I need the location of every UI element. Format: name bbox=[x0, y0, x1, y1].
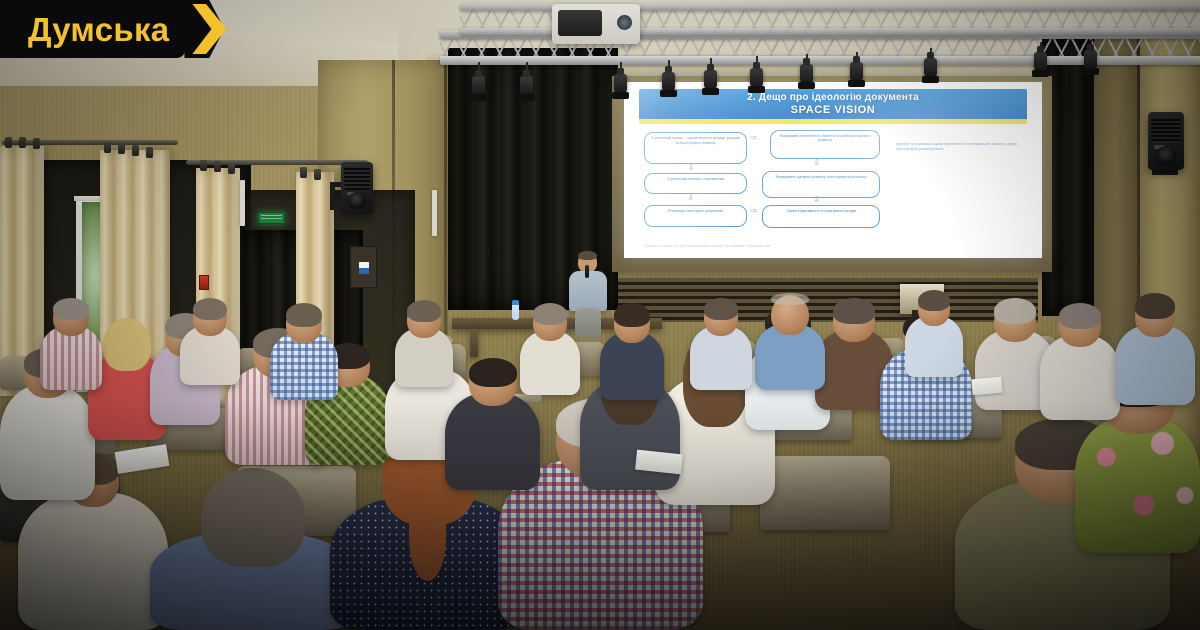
stage-light bbox=[850, 62, 863, 82]
stage-light bbox=[472, 76, 485, 96]
audience-member-torso bbox=[1115, 325, 1195, 405]
fire-alarm-box bbox=[199, 275, 209, 290]
stage-light bbox=[614, 74, 627, 94]
ceiling-projector bbox=[552, 4, 640, 44]
chair[interactable] bbox=[760, 456, 890, 530]
audience-member bbox=[905, 292, 963, 377]
photo-canvas: 2. Дещо про ідеологію документа SPACE VI… bbox=[0, 0, 1200, 630]
curtain-ring bbox=[132, 145, 139, 156]
wall-notice-board bbox=[350, 246, 377, 288]
audience-member-hair bbox=[1135, 293, 1175, 319]
stage-light bbox=[704, 70, 717, 90]
stage-light bbox=[662, 72, 675, 92]
presenter-hair bbox=[578, 251, 597, 260]
watermark-plate: Думська bbox=[0, 0, 185, 58]
audience-member-hair bbox=[407, 300, 441, 322]
curtain-ring bbox=[33, 138, 40, 149]
projector-body bbox=[558, 10, 602, 36]
flow-arrow-down-1: ⇩ bbox=[688, 164, 695, 172]
flow-box-5: Реалізація і моніторинг результатів bbox=[644, 205, 746, 227]
slide-title-line-2: SPACE VISION bbox=[641, 104, 1026, 117]
audience-member bbox=[40, 300, 102, 390]
speaker-cone bbox=[1156, 146, 1176, 165]
audience-member-hair bbox=[833, 298, 875, 324]
audience-member-torso bbox=[445, 393, 540, 490]
curtain-ring bbox=[104, 142, 111, 153]
audience-member-hair bbox=[533, 303, 567, 325]
speaker-grille bbox=[1151, 117, 1181, 144]
door-handle[interactable] bbox=[432, 190, 437, 236]
audience-member-hair bbox=[918, 290, 950, 311]
speaker-cone bbox=[348, 192, 366, 209]
audience-member-torso bbox=[0, 385, 95, 500]
audience-member bbox=[395, 302, 453, 387]
projection-screen: 2. Дещо про ідеологію документа SPACE VI… bbox=[624, 82, 1042, 258]
audience-member bbox=[1115, 295, 1195, 405]
slide-title: 2. Дещо про ідеологію документа SPACE VI… bbox=[641, 92, 1026, 118]
audience-member-hair bbox=[704, 298, 738, 320]
curtain-ring bbox=[200, 160, 207, 171]
audience-member bbox=[180, 300, 240, 385]
wall-speaker-left bbox=[341, 162, 373, 214]
flow-arrow-down-3: ⇩ bbox=[813, 159, 820, 167]
speaker-bracket-left-arm bbox=[330, 182, 335, 210]
flow-arrow-right-1: ⇨ bbox=[750, 134, 757, 142]
audience-member-hair bbox=[193, 298, 227, 320]
flow-box-2: Формування стратегічного бачення та ціле… bbox=[770, 130, 880, 159]
speaker-bracket-right bbox=[1152, 170, 1178, 175]
curtain-ring bbox=[228, 163, 235, 174]
audience-member-hair bbox=[286, 303, 322, 327]
audience-member bbox=[755, 295, 825, 390]
audience-member-hair bbox=[1059, 303, 1101, 329]
projector-lens bbox=[617, 15, 632, 30]
flow-arrow-down-2: ⇩ bbox=[688, 194, 695, 202]
handout-paper[interactable] bbox=[971, 377, 1002, 396]
flow-box-4: Формування сценаріїв розвитку та інструм… bbox=[762, 171, 880, 198]
audience-member bbox=[690, 300, 752, 390]
audience-member bbox=[520, 305, 580, 395]
audience-member-hair bbox=[201, 468, 305, 567]
audience-member-hair bbox=[53, 298, 89, 320]
curtain-ring bbox=[19, 137, 26, 148]
stage-light bbox=[750, 68, 763, 88]
slide-flowchart: Стратегічний аналіз — оцінка поточної си… bbox=[637, 130, 1030, 251]
flow-arrow-right-2: ⇨ bbox=[750, 207, 757, 215]
slide: 2. Дещо про ідеологію документа SPACE VI… bbox=[624, 82, 1042, 258]
water-bottle bbox=[512, 300, 519, 320]
curtain-ring bbox=[300, 167, 307, 178]
curtain-ring bbox=[314, 169, 321, 180]
chevron-right-icon bbox=[184, 0, 224, 58]
audience-member-torso bbox=[1075, 416, 1200, 553]
audience-member bbox=[150, 470, 355, 630]
wall-speaker-right bbox=[1148, 112, 1184, 170]
door-handle[interactable] bbox=[240, 180, 245, 226]
slide-title-line-1: 2. Дещо про ідеологію документа bbox=[641, 92, 1026, 104]
curtain-ring bbox=[146, 147, 153, 158]
audience-member-torso bbox=[18, 492, 168, 630]
curtain-ring bbox=[118, 143, 125, 154]
flow-box-6: Оцінка ефективності та коригування заход… bbox=[762, 205, 880, 228]
stage-light bbox=[520, 76, 533, 96]
audience-member-hair bbox=[469, 358, 517, 387]
stage-light bbox=[800, 64, 813, 84]
microphone bbox=[585, 265, 589, 278]
exit-sign bbox=[258, 212, 285, 224]
audience-member-hair bbox=[771, 293, 809, 305]
site-watermark[interactable]: Думська bbox=[0, 0, 224, 58]
audience-member-torso bbox=[1040, 335, 1120, 420]
curtain-ring bbox=[214, 161, 221, 172]
audience-member-ponytail bbox=[409, 494, 446, 581]
stage-light bbox=[1034, 52, 1047, 72]
audience-member-hair bbox=[614, 303, 650, 327]
stage-light bbox=[924, 58, 937, 78]
curtain-ring bbox=[5, 137, 12, 148]
flow-side-text: Критерії та показники оцінки ефективност… bbox=[896, 142, 1022, 154]
flow-box-1: Стратегічний аналіз — оцінка поточної си… bbox=[644, 132, 746, 164]
watermark-brand: Думська bbox=[28, 13, 169, 46]
slide-footer-note: Документ визначає пріоритети просторовог… bbox=[644, 244, 1021, 249]
audience-member bbox=[600, 305, 664, 400]
speaker-grille bbox=[344, 166, 371, 190]
audience-member-hair bbox=[994, 298, 1036, 324]
audience-member bbox=[270, 305, 338, 400]
audience-member bbox=[1040, 305, 1120, 420]
stage-light bbox=[1084, 50, 1097, 70]
curtain-rod-1 bbox=[2, 140, 178, 145]
flow-box-3: Стратегічний контекст і перспектива bbox=[644, 173, 746, 194]
flow-arrow-down-4: ⇩ bbox=[813, 196, 820, 204]
audience-member-hair bbox=[103, 318, 151, 371]
